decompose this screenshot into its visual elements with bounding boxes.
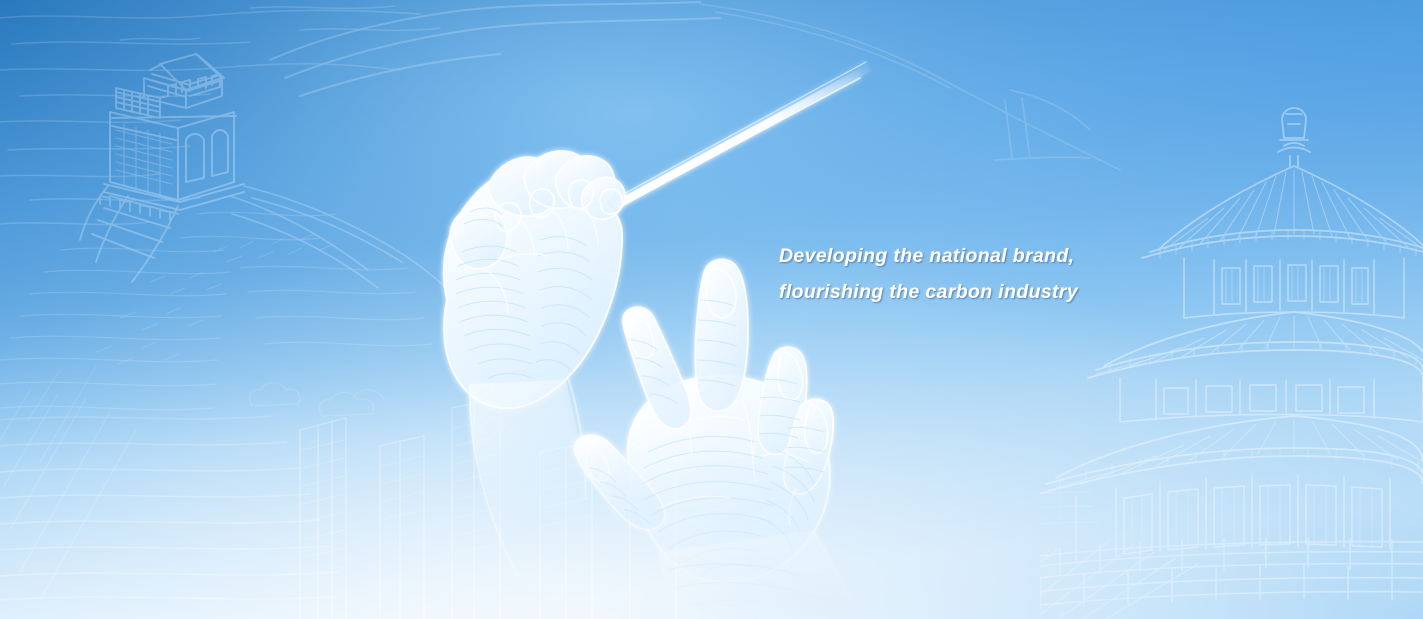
conductor-hands-artwork [0, 0, 1423, 619]
hero-banner: Developing the national brand, flourishi… [0, 0, 1423, 619]
